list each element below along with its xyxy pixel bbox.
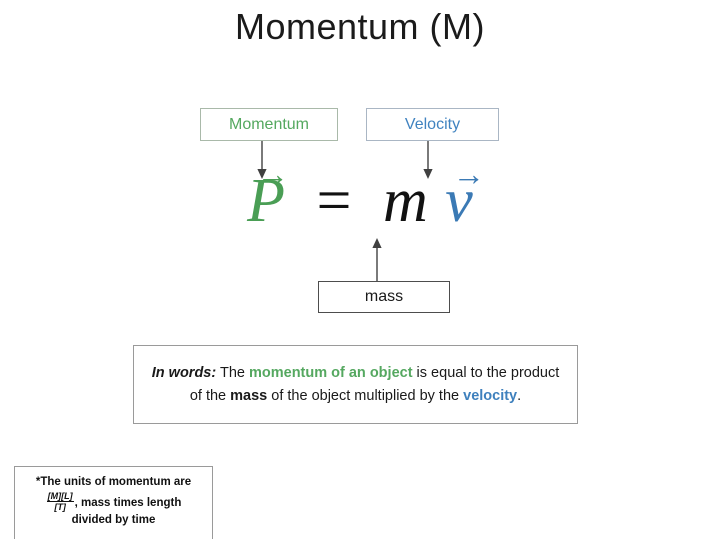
callout-label-momentum: Momentum [229, 117, 309, 133]
in-words-segment-3: of the object multiplied by the [267, 388, 463, 404]
equation-symbol-momentum: → P [247, 168, 285, 232]
callout-box-mass[interactable]: mass [318, 281, 450, 313]
footnote-line-1: *The units of momentum are [21, 475, 206, 491]
in-words-segment-4: . [517, 388, 521, 404]
footnote-line-3: divided by time [21, 513, 206, 529]
in-words-lead: In words: [152, 365, 216, 381]
vector-arrow-icon-p: → [257, 158, 289, 190]
callout-box-momentum[interactable]: Momentum [200, 108, 338, 141]
equation-symbol-velocity: → v [445, 168, 473, 232]
footnote-line-2: [M][L][T], mass times length [21, 492, 206, 514]
callout-box-velocity[interactable]: Velocity [366, 108, 499, 141]
in-words-highlight-mass: mass [230, 388, 267, 404]
in-words-highlight-velocity: velocity [463, 388, 517, 404]
page-title: Momentum (M) [0, 6, 720, 48]
in-words-highlight-momentum: momentum of an object [249, 365, 413, 381]
footnote-fraction-numerator: [M][L] [47, 491, 74, 502]
footnote-fraction-denominator: [T] [47, 502, 74, 512]
footnote-box: *The units of momentum are [M][L][T], ma… [14, 466, 213, 539]
arrow-up-icon-mass [370, 238, 384, 287]
in-words-segment-1: The [216, 365, 249, 381]
callout-label-mass: mass [365, 289, 403, 305]
slide-canvas: Momentum (M) Momentum Velocity → P = m →… [0, 0, 720, 539]
footnote-line-2-text: , mass times length [75, 496, 182, 508]
in-words-box: In words: The momentum of an object is e… [133, 345, 578, 424]
equation-momentum: → P = m → v [0, 168, 720, 232]
vector-arrow-icon-v: → [453, 158, 485, 190]
footnote-fraction: [M][L][T] [47, 491, 74, 513]
equation-symbol-mass: m [383, 167, 428, 235]
callout-label-velocity: Velocity [405, 117, 460, 133]
in-words-text: In words: The momentum of an object is e… [144, 362, 567, 407]
equation-equals-sign: = [301, 167, 368, 235]
